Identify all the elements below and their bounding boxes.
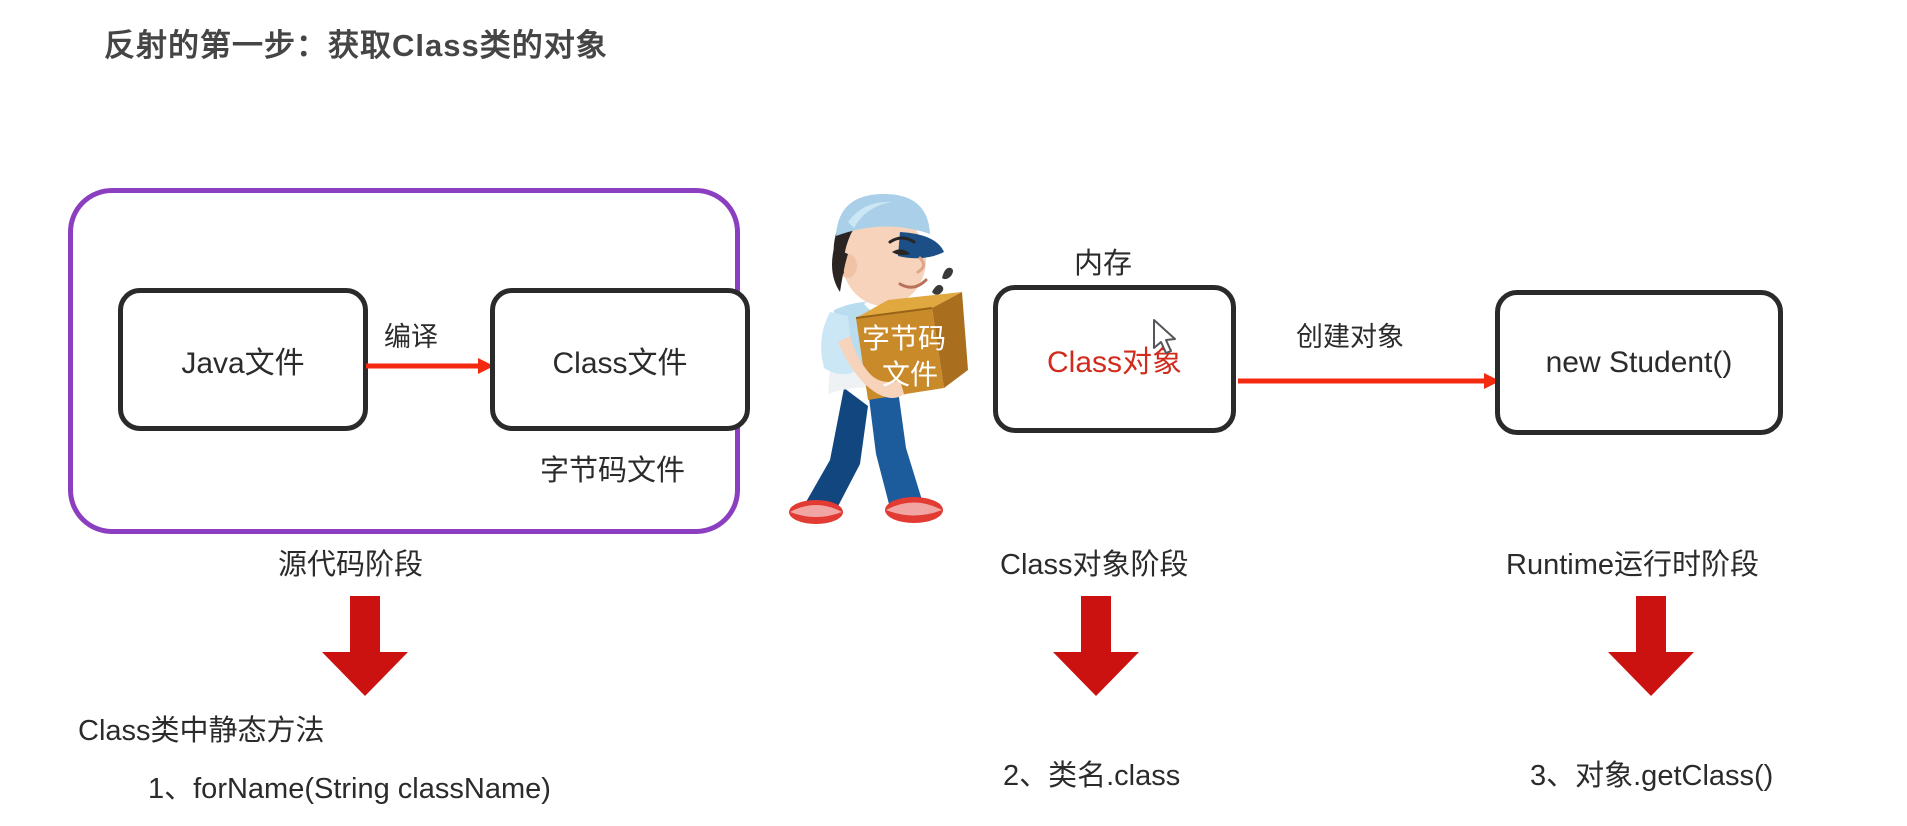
footnote-class-static-method-title: Class类中静态方法 (78, 707, 325, 749)
footnote-forname-method: 1、forName(String className) (148, 765, 551, 807)
node-class-file-label: Class文件 (552, 338, 687, 382)
down-arrow-icon-3 (1608, 596, 1694, 696)
bytecode-file-caption: 字节码文件 (540, 447, 685, 489)
courier-box-text-line2: 文件 (882, 359, 938, 390)
node-java-file-label: Java文件 (181, 338, 304, 382)
footnote-classname-dot-class: 2、类名.class (1003, 752, 1180, 794)
node-new-student-label: new Student() (1546, 346, 1733, 380)
compile-arrow-label: 编译 (384, 315, 438, 354)
node-new-student[interactable]: new Student() (1495, 290, 1783, 435)
node-class-object-label: Class对象 (1047, 337, 1182, 381)
stage-label-runtime: Runtime运行时阶段 (1506, 541, 1759, 583)
courier-box-text-line1: 字节码 (862, 323, 946, 354)
compile-arrow-icon (366, 357, 494, 375)
footnote-object-getclass: 3、对象.getClass() (1530, 752, 1773, 794)
diagram-canvas: 反射的第一步：获取Class类的对象 Java文件 编译 Class文件 字节码… (0, 0, 1907, 826)
create-object-arrow-icon (1238, 372, 1500, 390)
node-class-object[interactable]: Class对象 (993, 285, 1236, 433)
node-class-file[interactable]: Class文件 (490, 288, 750, 431)
page-title: 反射的第一步：获取Class类的对象 (104, 20, 608, 65)
node-java-file[interactable]: Java文件 (118, 288, 368, 431)
down-arrow-icon-2 (1053, 596, 1139, 696)
create-object-arrow-label: 创建对象 (1296, 315, 1404, 354)
down-arrow-icon-1 (322, 596, 408, 696)
stage-label-source-code: 源代码阶段 (278, 541, 423, 583)
courier-delivery-illustration: 字节码 文件 (772, 192, 972, 542)
memory-label: 内存 (1074, 240, 1132, 282)
stage-label-class-object: Class对象阶段 (1000, 541, 1189, 583)
